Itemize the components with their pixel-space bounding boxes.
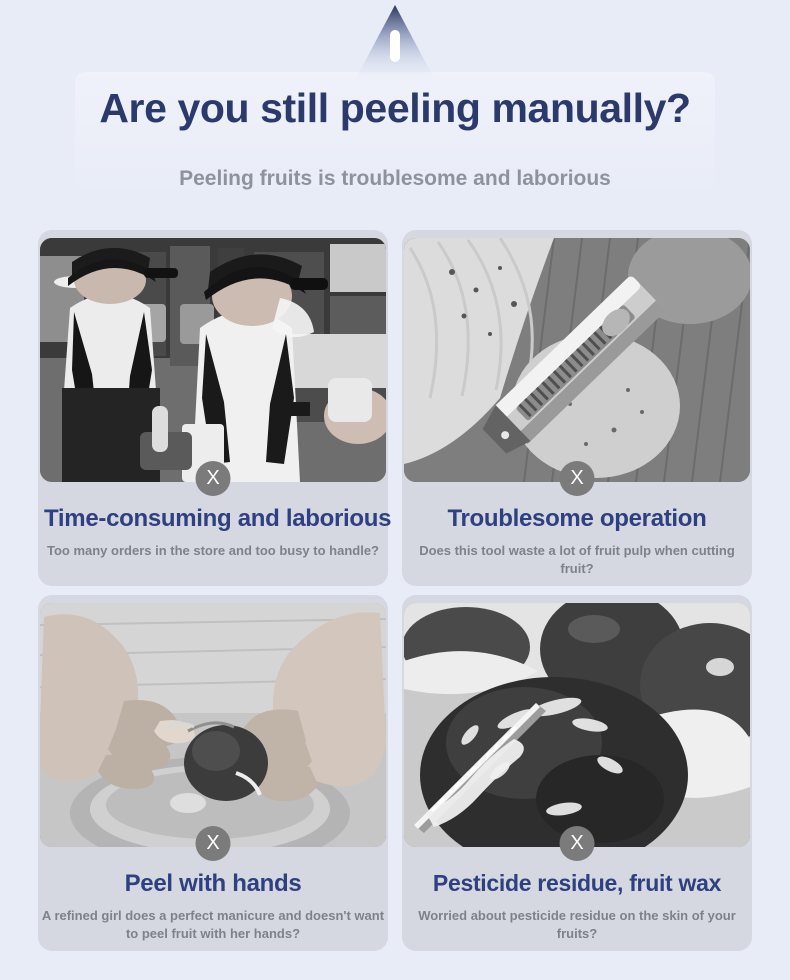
card-title: Troublesome operation [408,505,746,533]
card-caption: Too many orders in the store and too bus… [40,542,386,560]
card-photo-waxed-apple [404,603,750,847]
card-caption: Worried about pesticide residue on the s… [404,907,750,942]
card-title: Peel with hands [44,870,382,898]
page-title: Are you still peeling manually? [0,86,790,131]
pain-point-card-grid: X Time-consuming and laborious Too many … [38,230,752,951]
x-badge: X [560,826,595,861]
card-caption: Does this tool waste a lot of fruit pulp… [404,542,750,577]
warning-triangle-exclamation-icon [352,2,438,86]
card-caption: A refined girl does a perfect manicure a… [40,907,386,942]
card-title: Time-consuming and laborious [44,505,382,533]
card-title: Pesticide residue, fruit wax [408,870,746,896]
page-subtitle: Peeling fruits is troublesome and labori… [0,166,790,191]
page-header: Are you still peeling manually? Peeling … [0,0,790,212]
card-time-consuming[interactable]: X Time-consuming and laborious Too many … [38,230,388,586]
card-troublesome-operation[interactable]: X Troublesome operation Does this tool w… [402,230,752,586]
card-peel-with-hands[interactable]: X Peel with hands A refined girl does a … [38,595,388,951]
card-photo-hands-peeling [40,603,386,847]
card-photo-shop-staff [40,238,386,482]
card-photo-metal-peeler [404,238,750,482]
x-badge: X [560,461,595,496]
x-badge: X [196,461,231,496]
card-pesticide-residue[interactable]: X Pesticide residue, fruit wax Worried a… [402,595,752,951]
x-badge: X [196,826,231,861]
